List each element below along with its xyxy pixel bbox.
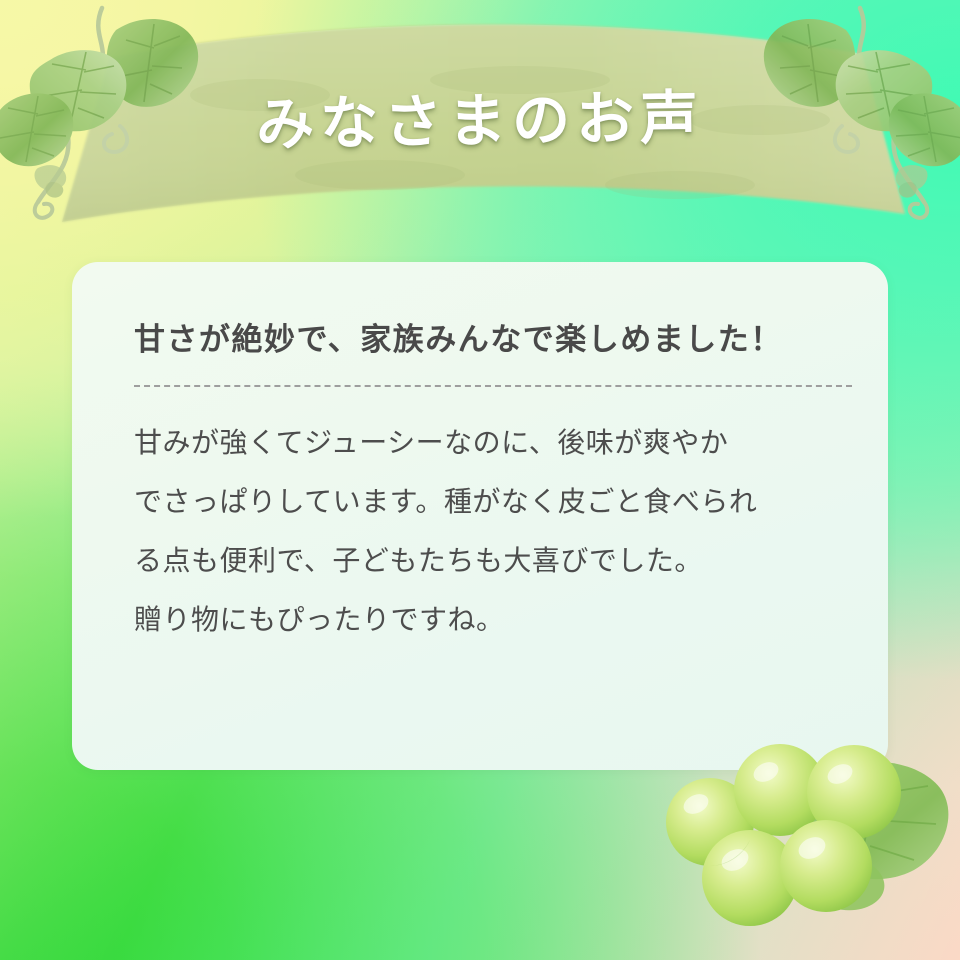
testimonial-content: 甘さが絶妙で、家族みんなで楽しめました！ 甘みが強くてジューシーなのに、後味が爽… xyxy=(134,314,836,649)
body-line: 贈り物にもぴったりですね。 xyxy=(134,590,836,649)
grape-leaf-vine-icon xyxy=(738,0,960,246)
body-line: 甘みが強くてジューシーなのに、後味が爽やか xyxy=(134,413,836,472)
testimonial-body: 甘みが強くてジューシーなのに、後味が爽やか でさっぱりしています。種がなく皮ごと… xyxy=(134,413,836,649)
testimonial-poster: みなさまのお声 xyxy=(0,0,960,960)
body-line: る点も便利で、子どもたちも大喜びでした。 xyxy=(134,531,836,590)
grape-leaf-vine-icon xyxy=(0,0,224,246)
testimonial-headline: 甘さが絶妙で、家族みんなで楽しめました！ xyxy=(134,314,836,359)
body-line: でさっぱりしています。種がなく皮ごと食べられ xyxy=(134,472,836,531)
dashed-divider xyxy=(134,385,852,387)
green-grape-cluster-icon xyxy=(622,732,952,952)
testimonial-card: 甘さが絶妙で、家族みんなで楽しめました！ 甘みが強くてジューシーなのに、後味が爽… xyxy=(72,262,888,770)
